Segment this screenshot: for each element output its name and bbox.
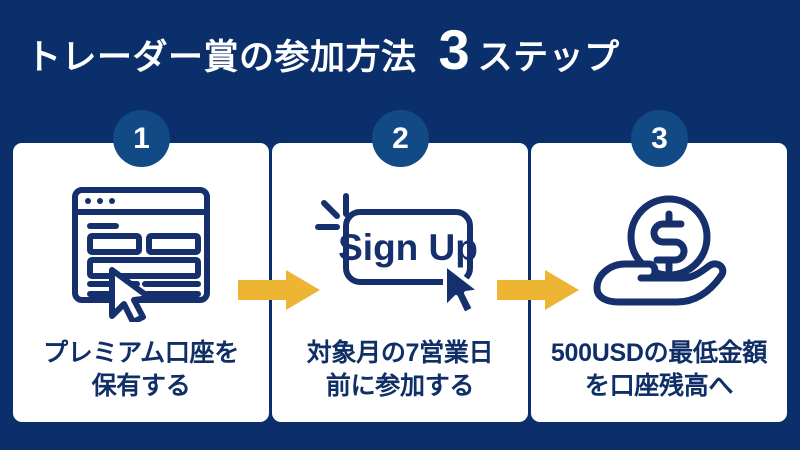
browser-form-cursor-icon bbox=[66, 182, 216, 322]
step-1-icon-wrap bbox=[13, 177, 269, 327]
step-2-label-line2: 前に参加する bbox=[280, 370, 520, 403]
infographic-canvas: トレーダー賞の参加方法 3 ステップ bbox=[0, 0, 800, 450]
step-badge-2: 2 bbox=[372, 110, 429, 167]
title-suffix-text: ステップ bbox=[478, 40, 620, 75]
step-3-label-line2: を口座残高へ bbox=[539, 370, 779, 403]
step-badge-3: 3 bbox=[631, 110, 688, 167]
step-3-label-line1: 500USDの最低金額 bbox=[551, 339, 767, 367]
title-step-count: 3 bbox=[439, 22, 470, 78]
arrow-right-icon bbox=[238, 270, 320, 310]
step-1-label: プレミアム口座を 保有する bbox=[21, 337, 261, 402]
step-1-label-line2: 保有する bbox=[21, 370, 261, 403]
step-1-label-line1: プレミアム口座を bbox=[43, 339, 239, 367]
arrow-right-icon bbox=[497, 270, 579, 310]
step-2-label-line1: 対象月の7営業日 bbox=[307, 339, 494, 367]
step-3-label: 500USDの最低金額 を口座残高へ bbox=[539, 337, 779, 402]
step-2-label: 対象月の7営業日 前に参加する bbox=[280, 337, 520, 402]
sign-up-button-cursor-icon: Sign Up bbox=[313, 190, 488, 315]
step-badge-1: 1 bbox=[113, 110, 170, 167]
step-card-1[interactable]: プレミアム口座を 保有する bbox=[13, 143, 269, 422]
title-main-text: トレーダー賞の参加方法 bbox=[26, 40, 417, 75]
hand-holding-dollar-coin-icon bbox=[589, 192, 729, 312]
page-title: トレーダー賞の参加方法 3 ステップ bbox=[26, 22, 620, 84]
sign-up-text: Sign Up bbox=[338, 227, 478, 268]
